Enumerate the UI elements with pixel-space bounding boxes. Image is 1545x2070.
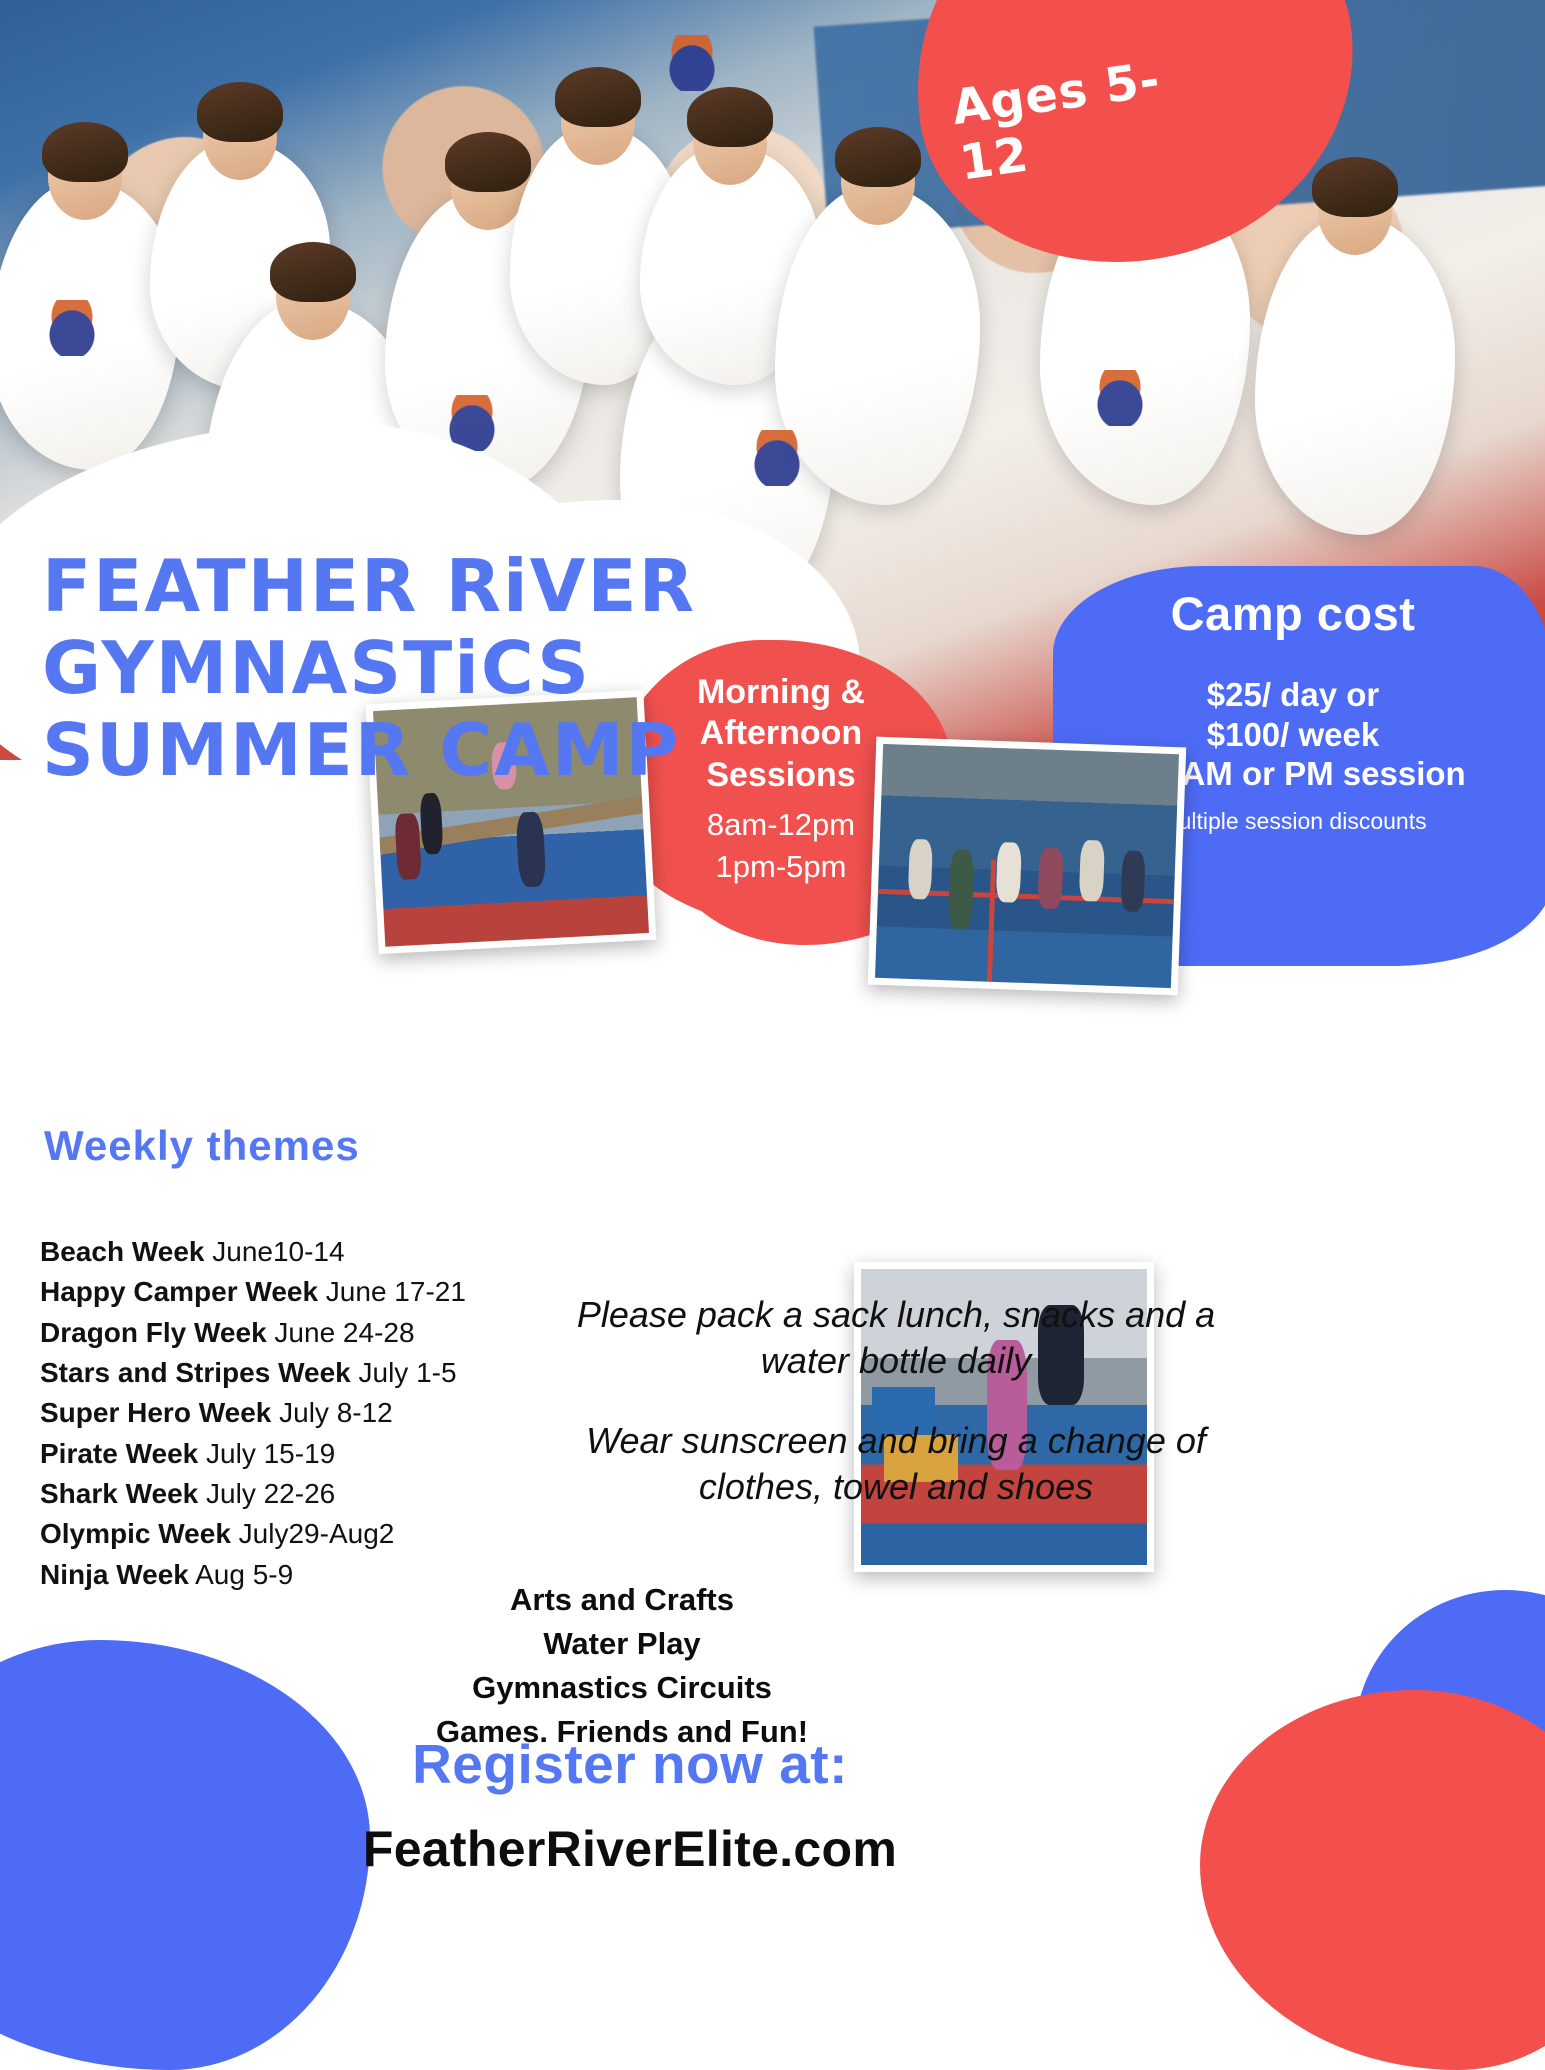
register-cta-text: Register now at: (300, 1732, 960, 1796)
coach-figure (394, 813, 421, 880)
weekly-theme-item: Beach Week June10-14 (40, 1232, 560, 1272)
weekly-theme-dates: June 24-28 (267, 1317, 415, 1348)
circle-game-photo (868, 737, 1186, 996)
weekly-theme-name: Stars and Stripes Week (40, 1357, 351, 1388)
activity-item: Arts and Crafts (392, 1578, 852, 1622)
activity-item: Water Play (392, 1622, 852, 1666)
instruction-lunch: Please pack a sack lunch, snacks and a w… (576, 1292, 1216, 1384)
weekly-theme-item: Super Hero Week July 8-12 (40, 1393, 560, 1433)
camper-figure (907, 838, 933, 900)
weekly-theme-item: Happy Camper Week June 17-21 (40, 1272, 560, 1312)
weekly-theme-dates: July29-Aug2 (231, 1518, 394, 1549)
team-shirt-logo (745, 430, 809, 486)
camper-figure (1120, 851, 1146, 913)
weekly-theme-name: Ninja Week (40, 1559, 189, 1590)
gymnast-figure (420, 793, 444, 855)
weekly-theme-dates: Aug 5-9 (189, 1559, 293, 1590)
weekly-theme-item: Stars and Stripes Week July 1-5 (40, 1353, 560, 1393)
weekly-theme-name: Dragon Fly Week (40, 1317, 267, 1348)
weekly-theme-dates: July 15-19 (198, 1438, 335, 1469)
weekly-theme-dates: July 1-5 (351, 1357, 457, 1388)
weekly-theme-dates: June10-14 (204, 1236, 344, 1267)
weekly-theme-item: Pirate Week July 15-19 (40, 1434, 560, 1474)
team-shirt-logo (660, 35, 724, 91)
instruction-sunscreen: Wear sunscreen and bring a change of clo… (576, 1418, 1216, 1510)
page-title-line-1: FEATHER RiVER (42, 545, 762, 627)
weekly-theme-item: Dragon Fly Week June 24-28 (40, 1313, 560, 1353)
camper-figure (948, 849, 974, 929)
activities-list: Arts and Crafts Water Play Gymnastics Ci… (392, 1578, 852, 1754)
circle-game-photo-image (875, 744, 1179, 988)
weekly-theme-dates: June 17-21 (318, 1276, 466, 1307)
camp-cost-title: Camp cost (1078, 586, 1508, 641)
weekly-theme-dates: July 8-12 (271, 1397, 392, 1428)
gymnast-figure (516, 811, 546, 888)
weekly-theme-name: Pirate Week (40, 1438, 198, 1469)
weekly-theme-name: Shark Week (40, 1478, 198, 1509)
weekly-theme-name: Beach Week (40, 1236, 204, 1267)
floor-tape-line (987, 860, 996, 982)
page-title-line-2: GYMNASTiCS (42, 627, 762, 709)
team-shirt-logo (1088, 370, 1152, 426)
camper-figure (996, 842, 1022, 904)
weekly-theme-dates: July 22-26 (198, 1478, 335, 1509)
weekly-themes-heading: Weekly themes (44, 1122, 360, 1170)
register-website-link[interactable]: FeatherRiverElite.com (300, 1820, 960, 1878)
weekly-theme-name: Happy Camper Week (40, 1276, 318, 1307)
weekly-theme-item: Shark Week July 22-26 (40, 1474, 560, 1514)
activity-item: Gymnastics Circuits (392, 1666, 852, 1710)
weekly-themes-list: Beach Week June10-14 Happy Camper Week J… (40, 1232, 560, 1595)
page-title-line-3: SUMMER CAMP (42, 709, 762, 791)
camp-cost-day-rate: $25/ day or (1078, 675, 1508, 715)
page-title: FEATHER RiVER GYMNASTiCS SUMMER CAMP (42, 545, 762, 791)
team-shirt-logo (40, 300, 104, 356)
weekly-theme-item: Olympic Week July29-Aug2 (40, 1514, 560, 1554)
weekly-theme-name: Olympic Week (40, 1518, 231, 1549)
camper-figure (1079, 840, 1105, 902)
weekly-theme-name: Super Hero Week (40, 1397, 271, 1428)
camper-instructions: Please pack a sack lunch, snacks and a w… (576, 1292, 1216, 1510)
camper-figure (1037, 848, 1063, 910)
